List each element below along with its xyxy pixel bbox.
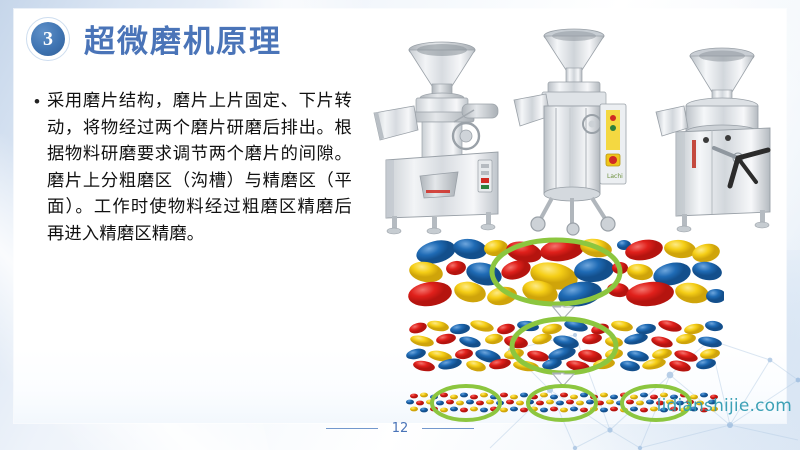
page-number: 12 xyxy=(392,421,409,436)
slide-canvas: 3 超微磨机原理 • 采用磨片结构，磨片上片固定、下片转动，将物经过两个磨片研磨… xyxy=(0,0,800,450)
particle-band-coarse xyxy=(407,236,724,310)
bullet-marker: • xyxy=(34,88,40,248)
particle-bands-svg xyxy=(404,236,724,422)
site-watermark: lidianshijie.com xyxy=(657,396,792,416)
machine-image-1 xyxy=(366,18,518,236)
particle-band-medium xyxy=(405,318,723,373)
page-title: 超微磨机原理 xyxy=(84,16,282,61)
badge-number: 3 xyxy=(31,22,65,56)
svg-text:Lachi: Lachi xyxy=(607,173,623,180)
footer-rule-left xyxy=(326,428,378,429)
slide-header: 3 超微磨机原理 xyxy=(26,16,282,61)
slide-footer: 12 xyxy=(0,421,800,436)
section-number-badge: 3 xyxy=(26,17,70,61)
body-bullet-item: • 采用磨片结构，磨片上片固定、下片转动，将物经过两个磨片研磨后排出。根据物料研… xyxy=(34,88,352,248)
grinding-process-diagram xyxy=(404,236,724,422)
machine-image-2: Lachi xyxy=(512,8,642,236)
footer-rule-right xyxy=(422,428,474,429)
body-paragraph: 采用磨片结构，磨片上片固定、下片转动，将物经过两个磨片研磨后排出。根据物料研磨要… xyxy=(47,88,352,248)
machine-photo-group: Lachi xyxy=(362,8,792,236)
machine-image-3 xyxy=(652,20,792,236)
